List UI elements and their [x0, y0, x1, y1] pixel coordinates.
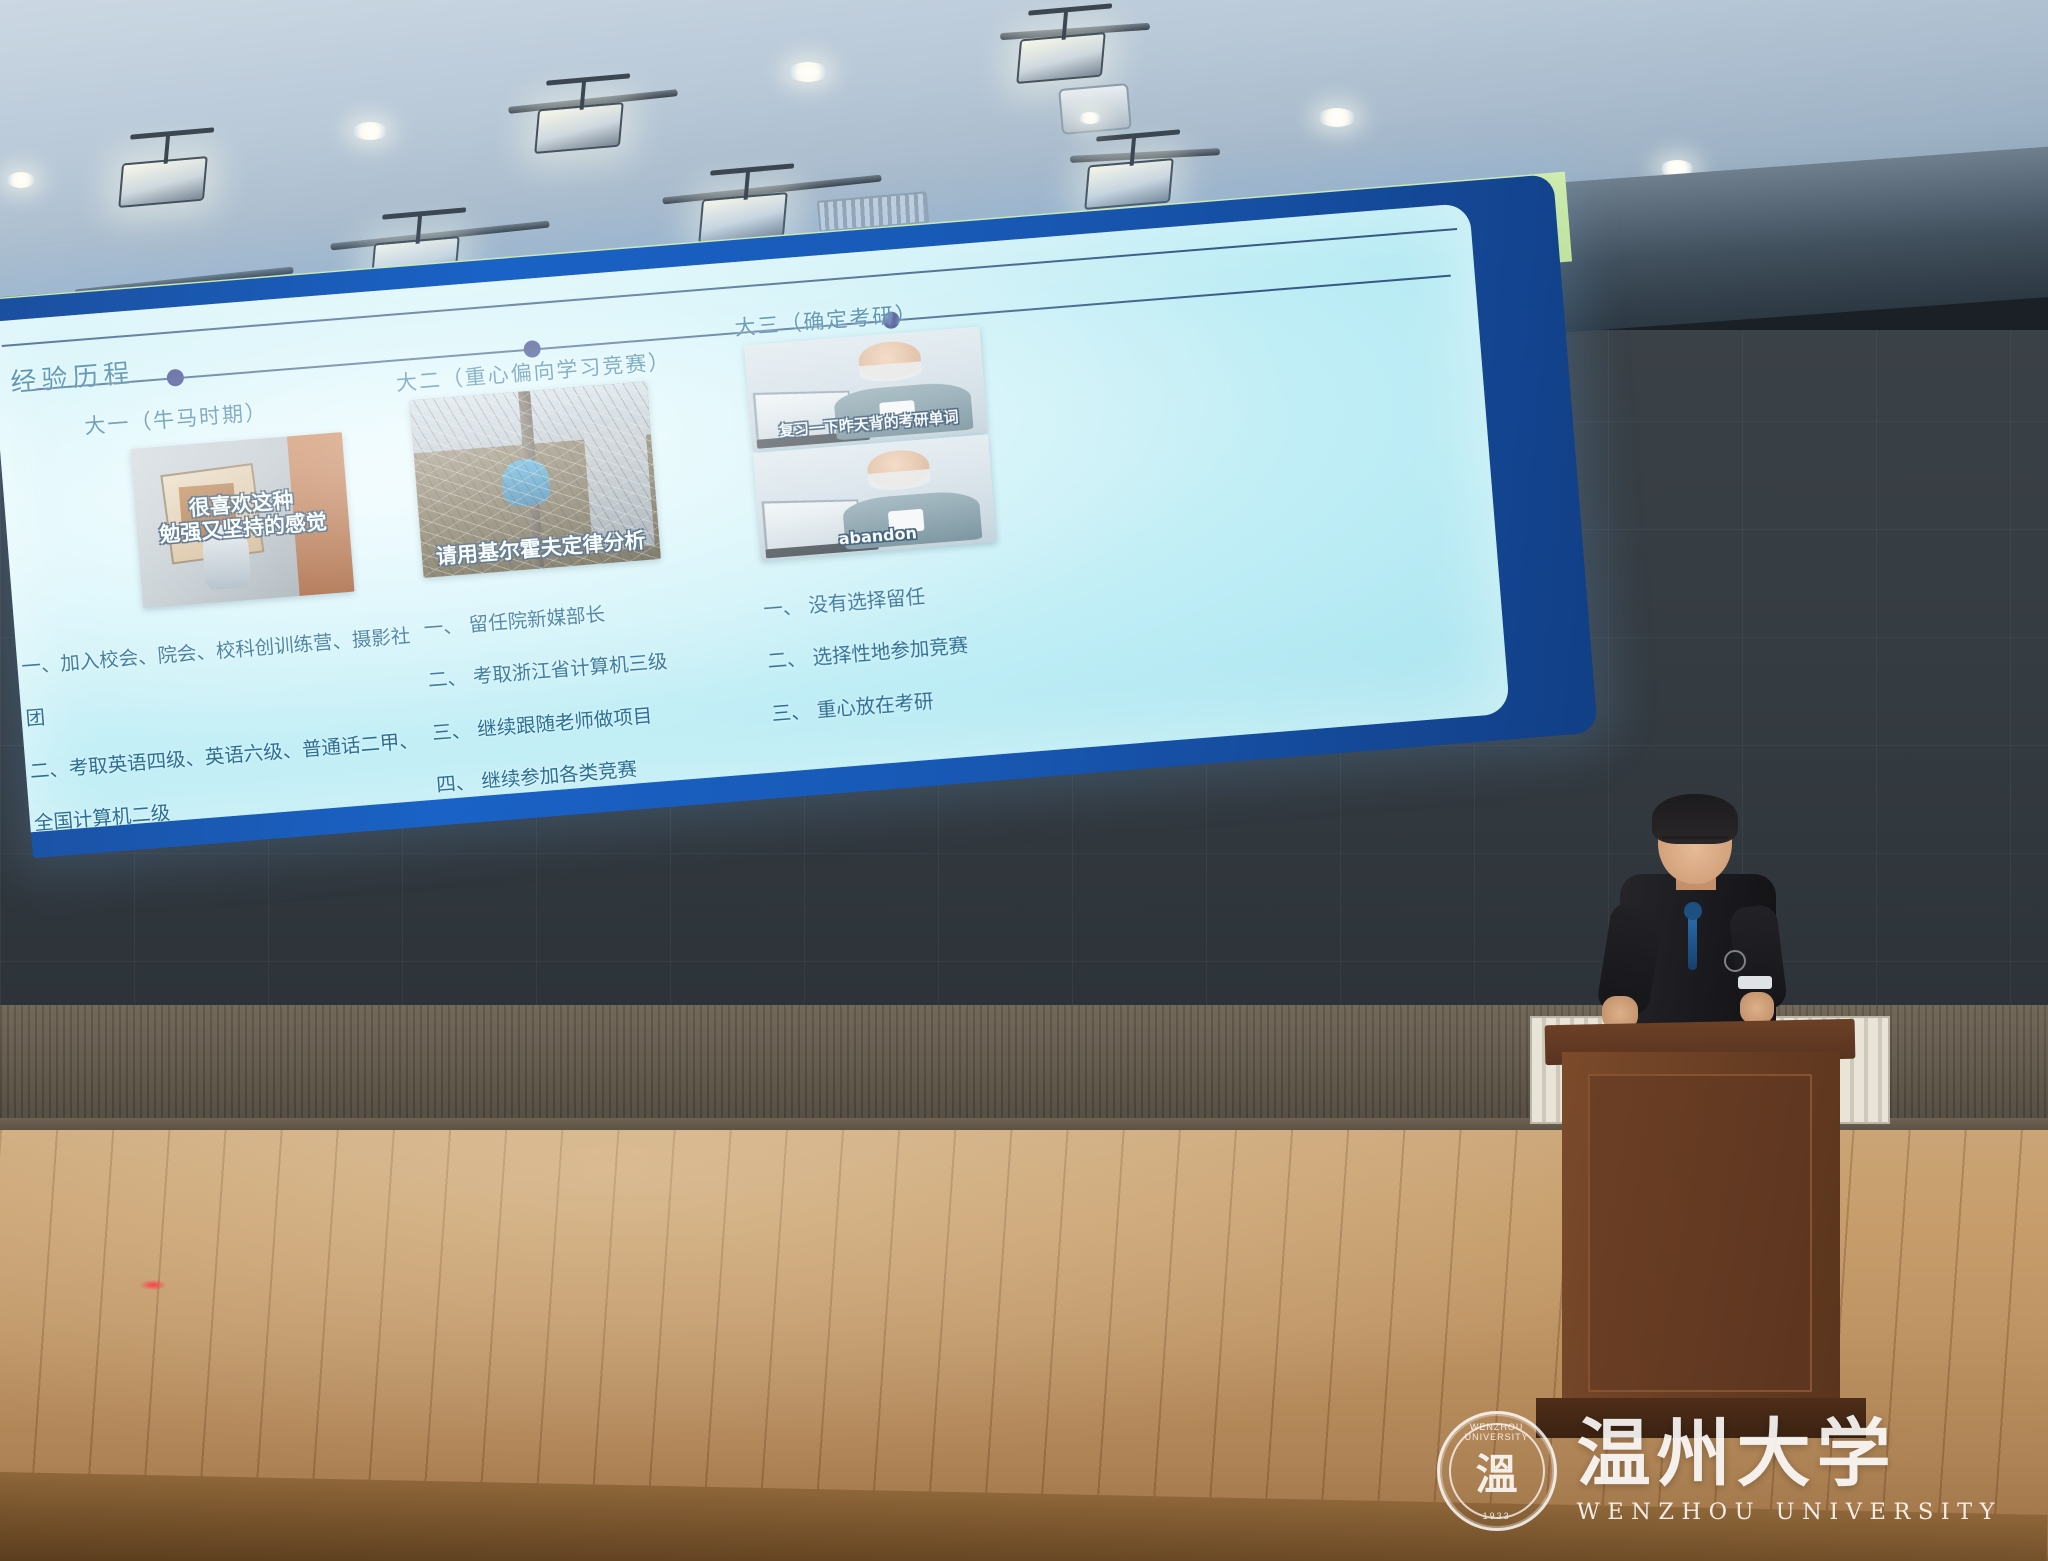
bullet-item: 团 [25, 672, 456, 733]
timeline-dot-1 [166, 369, 184, 387]
downlight-1 [6, 172, 36, 188]
university-seal-icon: 溫 WENZHOU UNIVERSITY 1933 [1437, 1411, 1557, 1531]
watermark-name-en: WENZHOU UNIVERSITY [1577, 1499, 2002, 1525]
podium-front-panel [1588, 1074, 1812, 1392]
glasses-icon [1662, 836, 1728, 849]
stage-spotlight-6 [1084, 158, 1174, 210]
auditorium-scene: 经验历程 大一（牛马时期） 很喜欢这种 勉强又坚持的感觉 一、加入校会、院会、校… [0, 0, 2048, 1561]
bullet-item: 一、 没有选择留任 [762, 571, 1083, 623]
stage-spotlight-1 [118, 156, 208, 208]
presenter-right-hand [1740, 992, 1774, 1024]
university-watermark: 溫 WENZHOU UNIVERSITY 1933 温州大学 WENZHOU U… [1437, 1411, 2002, 1531]
stage-spotlight-5 [1016, 32, 1106, 84]
seal-bottom-text: 1933 [1440, 1511, 1554, 1521]
laser-pointer-dot [140, 1280, 166, 1290]
bullet-item: 二、 选择性地参加竞赛 [767, 623, 1088, 675]
bullet-item: 三、 重心放在考研 [771, 675, 1092, 727]
harold-meme-photo: 复习一下昨天背的考研单词 [744, 327, 988, 452]
microphone-icon [1688, 912, 1697, 970]
bullet-item: 一、加入校会、院会、校科创训练营、摄影社 [21, 620, 452, 681]
shirt-logo-icon [1724, 950, 1746, 972]
watermark-text-block: 温州大学 WENZHOU UNIVERSITY [1577, 1417, 2002, 1525]
bullet-item: 二、 考取浙江省计算机三级 [427, 642, 758, 695]
column-header-freshman: 大一（牛马时期） [83, 396, 269, 441]
downlight-2 [352, 122, 388, 140]
downlight-4 [1318, 108, 1356, 127]
ceiling-speaker [1058, 83, 1132, 135]
microphone-head-icon [1684, 902, 1702, 920]
downlight-3 [788, 62, 828, 82]
seal-glyph: 溫 [1476, 1441, 1518, 1502]
bullet-list-freshman: 一、加入校会、院会、校科创训练营、摄影社 团 二、考取英语四级、英语六级、普通话… [18, 594, 478, 832]
bullet-list-junior: 一、 没有选择留任 二、 选择性地参加竞赛 三、 重心放在考研 [760, 545, 1094, 753]
stage-spotlight-4 [534, 102, 624, 154]
slide-title: 经验历程 [9, 353, 136, 400]
speaker-indicator [1078, 112, 1102, 124]
presenter-figure [1600, 800, 1800, 1040]
watermark-name-cn: 温州大学 [1577, 1417, 2002, 1491]
tangled-wires-photo: 请用基尔霍夫定律分析 [409, 381, 661, 578]
wristwatch-icon [1738, 976, 1772, 989]
seal-top-text: WENZHOU UNIVERSITY [1440, 1422, 1554, 1442]
bullet-item: 一、 留任院新媒部长 [423, 590, 754, 643]
bullet-item: 二、考取英语四级、英语六级、普通话二甲、 [29, 724, 460, 785]
harold-meme-photo-lower: abandon [753, 434, 997, 561]
graffiti-wall-photo: 很喜欢这种 勉强又坚持的感觉 [130, 432, 354, 608]
bullet-item: 三、 继续跟随老师做项目 [431, 694, 762, 747]
